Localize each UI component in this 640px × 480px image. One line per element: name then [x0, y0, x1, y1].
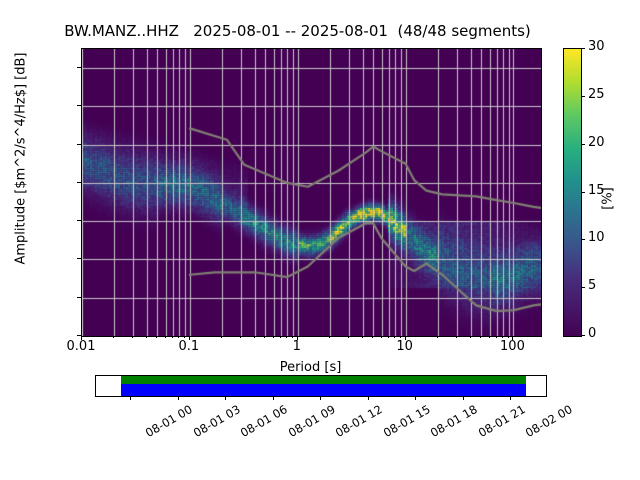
- y-tick-mark: [77, 67, 81, 68]
- timeline-tick-label: 08-01 03: [190, 402, 242, 440]
- y-tick-mark: [77, 182, 81, 183]
- x-minor-tick-mark: [273, 336, 274, 338]
- ppsd-figure: BW.MANZ..HHZ 2025-08-01 -- 2025-08-01 (4…: [0, 0, 640, 480]
- timeline-tick-mark: [273, 396, 274, 400]
- x-minor-tick-mark: [254, 336, 255, 338]
- y-axis-label: Amplitude [$m^2/s^4/Hz$] [dB]: [14, 9, 29, 309]
- timeline-tick-mark: [415, 396, 416, 400]
- x-minor-tick-mark: [372, 336, 373, 338]
- x-tick-mark: [189, 336, 190, 340]
- timeline-tick-mark: [178, 396, 179, 400]
- timeline-tick-mark: [368, 396, 369, 400]
- x-minor-tick-mark: [502, 336, 503, 338]
- x-minor-tick-mark: [394, 336, 395, 338]
- timeline-band-green: [121, 376, 526, 384]
- colorbar-tick-mark: [581, 239, 585, 240]
- x-minor-tick-mark: [480, 336, 481, 338]
- y-tick-mark: [77, 297, 81, 298]
- colorbar-label: [%]: [601, 149, 616, 249]
- x-minor-tick-mark: [292, 336, 293, 338]
- colorbar-tick-label: 30: [588, 39, 605, 54]
- timeline-tick-mark: [510, 396, 511, 400]
- y-tick-mark: [77, 258, 81, 259]
- x-minor-tick-mark: [172, 336, 173, 338]
- timeline-coverage-axes: [95, 375, 547, 397]
- colorbar-tick-label: 5: [588, 278, 596, 293]
- ppsd-histogram-canvas: [82, 49, 541, 336]
- colorbar-tick-label: 25: [588, 87, 605, 102]
- x-minor-tick-mark: [184, 336, 185, 338]
- x-minor-tick-mark: [329, 336, 330, 338]
- x-tick-label: 1: [293, 339, 301, 354]
- x-minor-tick-mark: [489, 336, 490, 338]
- x-minor-tick-mark: [178, 336, 179, 338]
- x-minor-tick-mark: [286, 336, 287, 338]
- x-minor-tick-mark: [240, 336, 241, 338]
- x-minor-tick-mark: [496, 336, 497, 338]
- x-minor-tick-mark: [348, 336, 349, 338]
- colorbar-tick-mark: [581, 335, 585, 336]
- x-minor-tick-mark: [280, 336, 281, 338]
- colorbar-tick-label: 20: [588, 135, 605, 150]
- x-minor-tick-mark: [437, 336, 438, 338]
- colorbar-tick-mark: [581, 192, 585, 193]
- timeline-tick-label: 08-01 15: [380, 402, 432, 440]
- colorbar-tick-mark: [581, 96, 585, 97]
- timeline-tick-label: 08-01 00: [143, 402, 195, 440]
- timeline-tick-label: 08-01 12: [333, 402, 385, 440]
- timeline-coverage-bar: [121, 376, 526, 396]
- y-tick-mark: [77, 220, 81, 221]
- colorbar-tick-mark: [581, 287, 585, 288]
- x-minor-tick-mark: [156, 336, 157, 338]
- x-tick-label: 10: [396, 339, 413, 354]
- x-tick-label: 0.1: [179, 339, 200, 354]
- ppsd-plot-area: [81, 48, 542, 337]
- x-minor-tick-mark: [456, 336, 457, 338]
- x-minor-tick-mark: [113, 336, 114, 338]
- x-minor-tick-mark: [264, 336, 265, 338]
- x-tick-mark: [297, 336, 298, 340]
- x-tick-mark: [512, 336, 513, 340]
- colorbar-tick-mark: [581, 144, 585, 145]
- x-minor-tick-mark: [470, 336, 471, 338]
- timeline-tick-label: 08-01 21: [475, 402, 527, 440]
- x-tick-mark: [405, 336, 406, 340]
- timeline-tick-label: 08-01 18: [428, 402, 480, 440]
- timeline-tick-mark: [130, 396, 131, 400]
- x-minor-tick-mark: [362, 336, 363, 338]
- x-minor-tick-mark: [400, 336, 401, 338]
- x-minor-tick-mark: [165, 336, 166, 338]
- timeline-tick-label: 08-02 00: [523, 402, 575, 440]
- x-tick-label: 100: [500, 339, 525, 354]
- y-tick-mark: [77, 105, 81, 106]
- timeline-tick-label: 08-01 06: [238, 402, 290, 440]
- x-minor-tick-mark: [381, 336, 382, 338]
- x-minor-tick-mark: [221, 336, 222, 338]
- timeline-tick-mark: [463, 396, 464, 400]
- colorbar-tick-mark: [581, 48, 585, 49]
- x-minor-tick-mark: [146, 336, 147, 338]
- colorbar-tick-label: 0: [588, 326, 596, 341]
- x-tick-mark: [81, 336, 82, 340]
- timeline-band-blue: [121, 384, 526, 396]
- timeline-tick-label: 08-01 09: [285, 402, 337, 440]
- timeline-tick-mark: [320, 396, 321, 400]
- x-axis-label: Period [s]: [81, 360, 540, 375]
- y-tick-mark: [77, 144, 81, 145]
- x-tick-label: 0.01: [67, 339, 96, 354]
- x-minor-tick-mark: [388, 336, 389, 338]
- page-title: BW.MANZ..HHZ 2025-08-01 -- 2025-08-01 (4…: [0, 22, 595, 40]
- timeline-tick-mark: [225, 396, 226, 400]
- colorbar: [563, 48, 582, 337]
- x-minor-tick-mark: [132, 336, 133, 338]
- x-minor-tick-mark: [508, 336, 509, 338]
